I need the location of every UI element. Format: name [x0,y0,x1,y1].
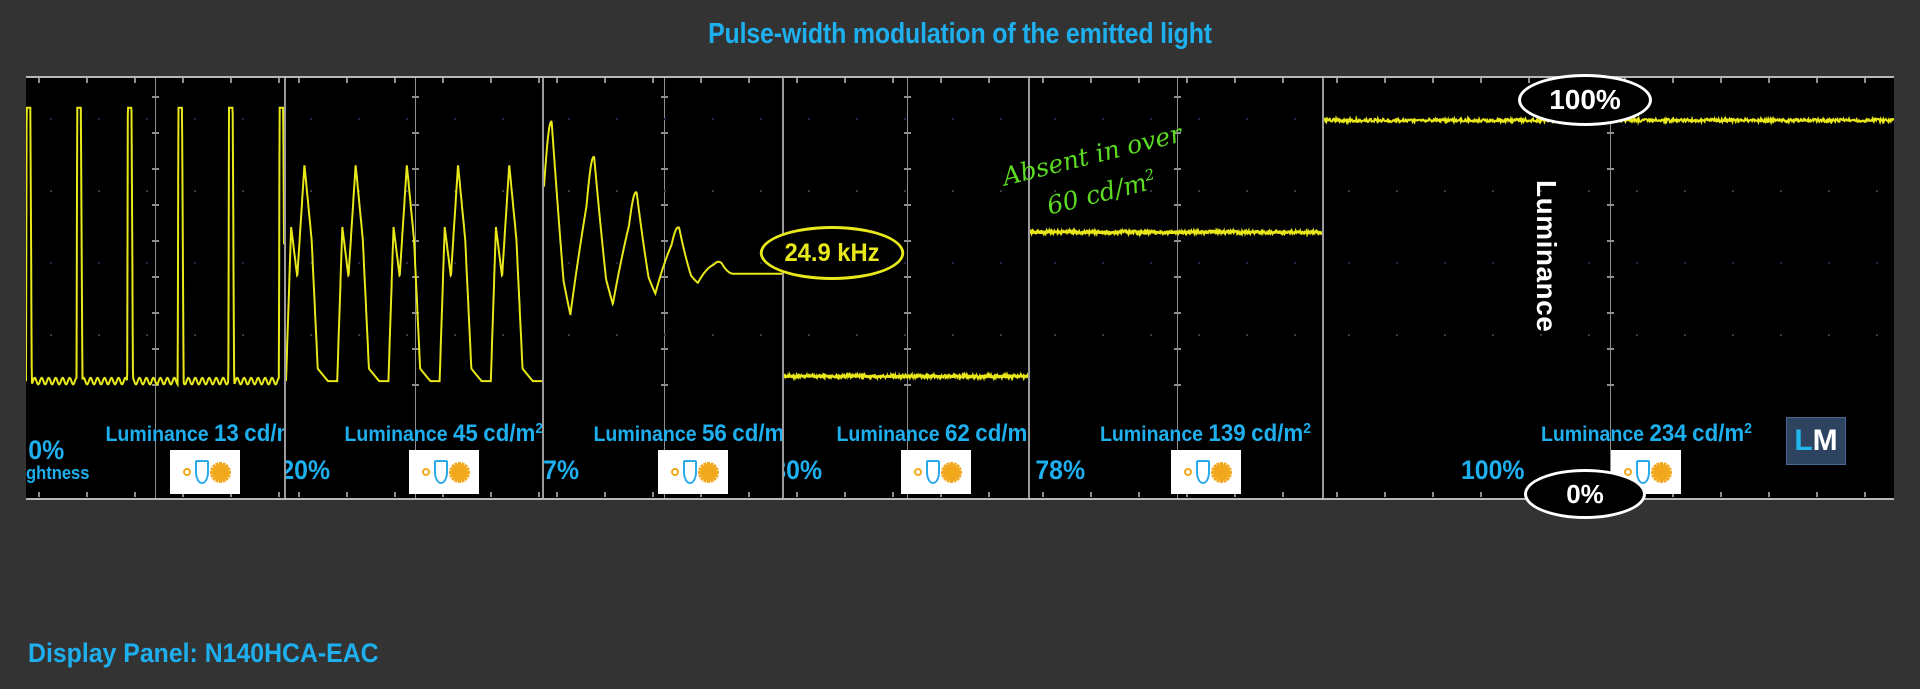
small-sun-icon [1180,464,1196,480]
slider-handle[interactable] [1196,460,1210,484]
luminance-unit: cd/m [1692,420,1744,447]
luminance-max-badge: 100% [1518,74,1652,126]
large-sun-icon [210,462,231,483]
luminance-readout: Luminance 45 cd/m2 [344,420,542,448]
luminance-value: 234 [1649,420,1686,447]
waveform-path [286,165,542,381]
brightness-slider[interactable] [1171,450,1241,494]
pwm-frequency-badge: 24.9 kHz [760,226,904,280]
waveform-path [26,108,284,385]
sun-core [1184,468,1192,476]
panel-label-block: 0%BrightnessLuminance 13 cd/m2 [26,406,284,498]
luminance-unit: cd/m [975,420,1027,447]
luminance-group: Luminance 56 cd/m2 [586,420,782,494]
waveform-path [544,122,782,314]
scope-panel-30pct: 30%Luminance 62 cd/m2 [782,78,1028,498]
waveform-path [1030,231,1322,234]
lm-logo: LM [1786,417,1846,465]
oscilloscope-strip: 0%BrightnessLuminance 13 cd/m220%Luminan… [26,76,1894,500]
slider-handle[interactable] [195,460,209,484]
brightness-percent-value: 100% [1461,455,1525,485]
panel-label-block: 27%Luminance 56 cd/m2 [544,406,782,498]
brightness-slider[interactable] [170,450,240,494]
scope-panel-20pct: 20%Luminance 45 cd/m2 [284,78,542,498]
logo-letter-l: L [1794,426,1812,456]
large-sun-icon [1651,462,1672,483]
waveform-path [784,375,1028,378]
sun-core [183,468,191,476]
slider-handle[interactable] [1636,460,1650,484]
large-sun-icon [449,462,470,483]
luminance-unit: cd/m [732,420,782,447]
sun-core [914,468,922,476]
brightness-percent-value: 30% [782,455,822,485]
luminance-label: Luminance [105,423,208,446]
scope-panel-27pct: 27%Luminance 56 cd/m2 [542,78,782,498]
luminance-label: Luminance [1100,423,1203,446]
luminance-label: Luminance [344,423,447,446]
brightness-percent: 27% [542,457,583,494]
brightness-percent-value: 0% [28,435,64,465]
scope-panel-0pct: 0%BrightnessLuminance 13 cd/m2 [26,78,284,498]
brightness-slider[interactable] [409,450,479,494]
brightness-slider[interactable] [901,450,971,494]
luminance-unit: cd/m [1251,420,1303,447]
small-sun-icon [910,464,926,480]
panel-label-block: 20%Luminance 45 cd/m2 [286,406,542,498]
page-title: Pulse-width modulation of the emitted li… [134,18,1785,51]
brightness-sublabel: Brightness [26,464,89,484]
luminance-unit-superscript: 2 [1744,420,1752,437]
luminance-value: 45 [453,420,478,447]
small-sun-icon [179,464,195,480]
luminance-readout: Luminance 62 cd/m2 [836,420,1028,448]
panel-label-block: 30%Luminance 62 cd/m2 [784,406,1028,498]
luminance-min-badge: 0% [1524,469,1646,519]
luminance-value: 139 [1209,420,1246,447]
small-sun-icon [418,464,434,480]
large-sun-icon [698,462,719,483]
luminance-value: 56 [702,420,727,447]
luminance-unit: cd/m [244,420,284,447]
luminance-unit-superscript: 2 [535,420,542,437]
slider-handle[interactable] [926,460,940,484]
luminance-label: Luminance [593,423,696,446]
brightness-percent: 20% [284,457,334,494]
luminance-readout: Luminance 139 cd/m2 [1100,420,1311,448]
slider-handle[interactable] [683,460,697,484]
luminance-readout: Luminance 234 cd/m2 [1540,420,1751,448]
sun-core [422,468,430,476]
luminance-label: Luminance [836,423,939,446]
logo-letter-m: M [1813,426,1838,456]
luminance-label: Luminance [1540,423,1643,446]
luminance-value: 62 [945,420,970,447]
brightness-slider[interactable] [658,450,728,494]
luminance-group: Luminance 139 cd/m2 [1092,420,1319,494]
display-panel-caption: Display Panel: N140HCA-EAC [28,638,379,669]
luminance-axis-label: Luminance [1530,180,1562,332]
brightness-percent: 100% [1461,457,1529,494]
luminance-readout: Luminance 56 cd/m2 [593,420,782,448]
luminance-group: Luminance 45 cd/m2 [337,420,542,494]
luminance-readout: Luminance 13 cd/m2 [105,420,284,448]
luminance-unit: cd/m [483,420,535,447]
brightness-percent: 0%Brightness [26,437,94,494]
luminance-group: Luminance 13 cd/m2 [98,420,284,494]
large-sun-icon [1211,462,1232,483]
brightness-percent-value: 20% [284,455,330,485]
brightness-percent-value: 27% [542,455,579,485]
luminance-group: Luminance 62 cd/m2 [829,420,1028,494]
brightness-percent: 30% [782,457,826,494]
sun-core [671,468,679,476]
luminance-value: 13 [214,420,239,447]
small-sun-icon [667,464,683,480]
large-sun-icon [941,462,962,483]
brightness-percent: 78% [1035,457,1089,494]
brightness-percent-value: 78% [1035,455,1085,485]
panel-label-block: 78%Luminance 139 cd/m2 [1030,406,1322,498]
luminance-unit-superscript: 2 [1303,420,1311,437]
slider-handle[interactable] [434,460,448,484]
